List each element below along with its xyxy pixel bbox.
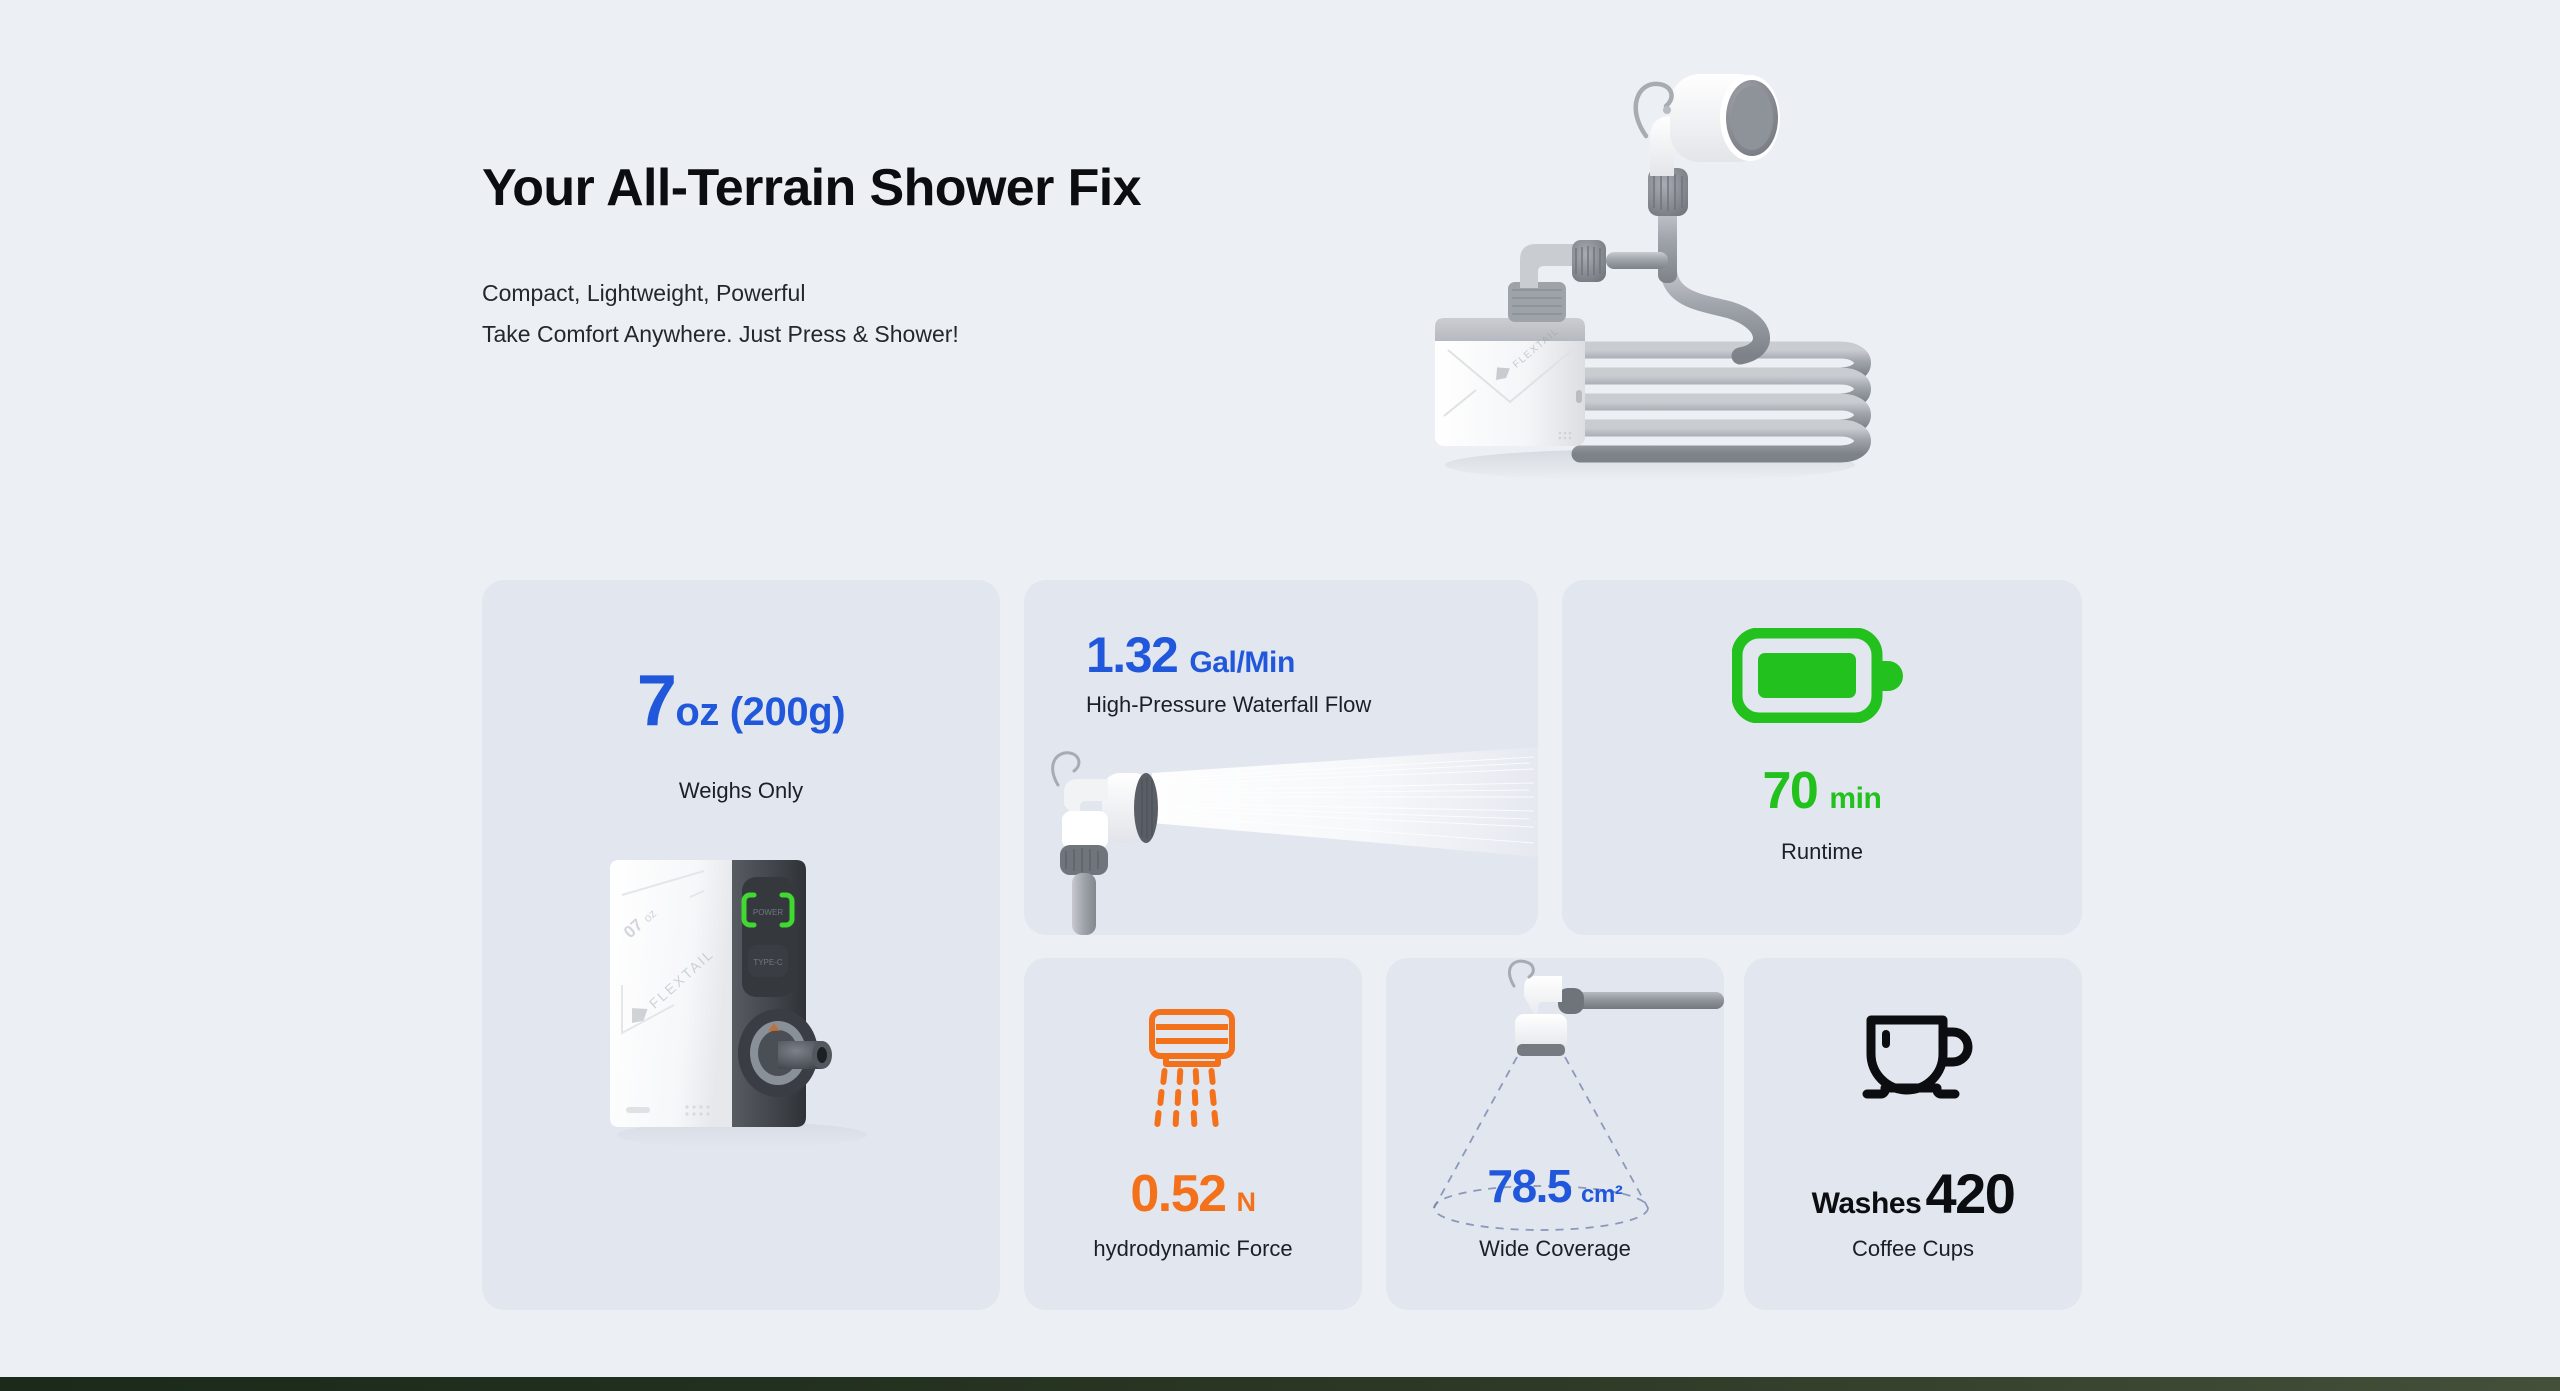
hero-subtitle-line-2: Take Comfort Anywhere. Just Press & Show…	[482, 314, 1382, 355]
card-flow-rate: 1.32 Gal/Min High-Pressure Waterfall Flo…	[1024, 580, 1538, 935]
flow-stat: 1.32 Gal/Min	[1086, 630, 1295, 680]
flow-value: 1.32	[1086, 630, 1177, 680]
battery-unit: min	[1829, 784, 1881, 814]
coverage-value: 78.5	[1487, 1163, 1571, 1209]
force-value: 0.52	[1130, 1168, 1225, 1220]
weight-caption: Weighs Only	[482, 777, 1000, 806]
flow-unit: Gal/Min	[1189, 648, 1295, 678]
next-section-strip	[0, 1377, 2560, 1391]
card-wide-coverage: 78.5 cm² Wide Coverage	[1386, 958, 1724, 1310]
hero-subtitle-line-1: Compact, Lightweight, Powerful	[482, 273, 1382, 314]
svg-text:TYPE-C: TYPE-C	[753, 958, 783, 967]
pump-product-image: 07 oz FLEXTAIL	[582, 835, 912, 1165]
hero-product-image: FLEXTAIL	[1400, 50, 1920, 520]
card-weight: 7 oz (200g) Weighs Only	[482, 580, 1000, 1310]
card-battery-runtime: 70 min Runtime	[1562, 580, 2082, 935]
coverage-stat: 78.5 cm²	[1386, 1163, 1724, 1209]
cups-label: Washes	[1812, 1189, 1922, 1219]
card-coffee-cups: Washes 420 Coffee Cups	[1744, 958, 2082, 1310]
card-hydrodynamic-force: 0.52 N hydrodynamic Force	[1024, 958, 1362, 1310]
battery-stat: 70 min	[1562, 765, 2082, 817]
weight-stat: 7 oz (200g)	[482, 665, 1000, 737]
product-feature-page: Your All-Terrain Shower Fix Compact, Lig…	[0, 0, 2560, 1391]
hero-copy: Your All-Terrain Shower Fix Compact, Lig…	[482, 160, 1382, 355]
battery-icon	[1732, 628, 1912, 723]
shower-head-icon	[1138, 1006, 1248, 1131]
weight-unit: oz (200g)	[675, 692, 845, 732]
cups-value: 420	[1925, 1166, 2014, 1222]
coffee-cup-icon	[1853, 1008, 1973, 1123]
feature-card-grid: 7 oz (200g) Weighs Only	[482, 580, 2082, 1310]
shower-spray-image	[1024, 745, 1538, 935]
coverage-unit: cm²	[1581, 1183, 1622, 1207]
force-caption: hydrodynamic Force	[1024, 1235, 1362, 1264]
hero-section: Your All-Terrain Shower Fix Compact, Lig…	[0, 0, 2560, 560]
force-stat: 0.52 N	[1024, 1168, 1362, 1220]
battery-value: 70	[1763, 765, 1818, 817]
coverage-caption: Wide Coverage	[1386, 1235, 1724, 1264]
page-title: Your All-Terrain Shower Fix	[482, 160, 1382, 217]
battery-caption: Runtime	[1562, 838, 2082, 867]
weight-value: 7	[637, 665, 676, 737]
force-unit: N	[1237, 1189, 1256, 1216]
cups-caption: Coffee Cups	[1744, 1235, 2082, 1264]
power-label: POWER	[753, 908, 783, 917]
flow-caption: High-Pressure Waterfall Flow	[1086, 692, 1371, 718]
cups-stat: Washes 420	[1744, 1166, 2082, 1222]
hero-subtitle: Compact, Lightweight, Powerful Take Comf…	[482, 273, 1382, 355]
